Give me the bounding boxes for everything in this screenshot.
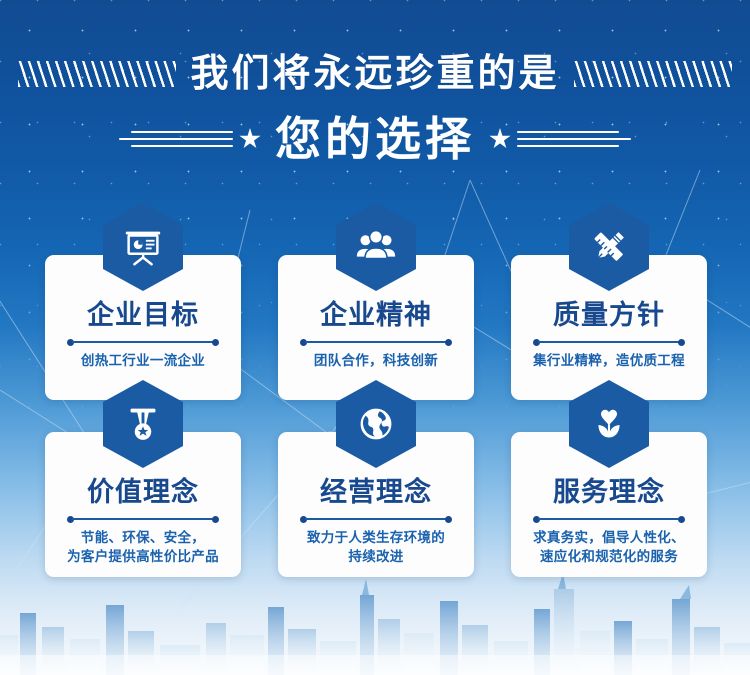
card-subtitle-line: 求真务实，倡导人性化、 xyxy=(517,528,701,547)
value-cards-grid: 企业目标 创热工行业一流企业 xyxy=(45,255,707,577)
icon-hex-badge xyxy=(336,203,416,291)
presentation-board-icon xyxy=(120,224,166,270)
cards-row-2: 价值理念 节能、环保、安全， 为客户提供高性价比产品 xyxy=(45,432,707,577)
card-title: 企业精神 xyxy=(320,299,432,331)
card-title: 经营理念 xyxy=(320,476,432,508)
hatch-right-icon xyxy=(574,61,732,87)
icon-hex-badge xyxy=(103,380,183,468)
card-title: 质量方针 xyxy=(553,299,665,331)
globe-icon xyxy=(353,401,399,447)
hatch-left-icon xyxy=(18,61,176,87)
header-title-secondary: 您的选择 xyxy=(275,111,475,167)
card-divider xyxy=(67,338,219,346)
value-card[interactable]: 经营理念 致力于人类生存环境的 持续改进 xyxy=(278,432,474,577)
value-card[interactable]: 质量方针 集行业精粹，造优质工程 xyxy=(511,255,707,400)
card-subtitle: 致力于人类生存环境的 持续改进 xyxy=(284,528,468,566)
header-title-primary: 我们将永远珍重的是 xyxy=(190,51,559,97)
card-subtitle: 节能、环保、安全， 为客户提供高性价比产品 xyxy=(51,528,235,566)
icon-hex-badge xyxy=(569,203,649,291)
header: 我们将永远珍重的是 您的选择 xyxy=(0,0,750,190)
value-card[interactable]: 企业目标 创热工行业一流企业 xyxy=(45,255,241,400)
card-divider xyxy=(300,338,452,346)
card-divider xyxy=(300,515,452,523)
card-subtitle-line: 节能、环保、安全， xyxy=(51,528,235,547)
card-subtitle-line: 持续改进 xyxy=(284,547,468,566)
card-subtitle: 集行业精粹，造优质工程 xyxy=(517,351,701,370)
card-title: 服务理念 xyxy=(553,476,665,508)
star-left-icon xyxy=(239,128,261,150)
card-subtitle-line: 致力于人类生存环境的 xyxy=(284,528,468,547)
icon-hex-badge xyxy=(103,203,183,291)
card-subtitle-line: 集行业精粹，造优质工程 xyxy=(517,351,701,370)
header-line2-row: 您的选择 xyxy=(0,108,750,170)
three-people-icon xyxy=(353,224,399,270)
card-subtitle-line: 为客户提供高性价比产品 xyxy=(51,547,235,566)
card-divider xyxy=(67,515,219,523)
heart-flower-icon xyxy=(586,401,632,447)
medal-icon xyxy=(120,401,166,447)
card-subtitle-line: 团队合作，科技创新 xyxy=(284,351,468,370)
poster-stage: 我们将永远珍重的是 您的选择 xyxy=(0,0,750,675)
cards-row-1: 企业目标 创热工行业一流企业 xyxy=(45,255,707,400)
card-subtitle: 创热工行业一流企业 xyxy=(51,351,235,370)
value-card[interactable]: 服务理念 求真务实，倡导人性化、 速应化和规范化的服务 xyxy=(511,432,707,577)
card-divider xyxy=(533,338,685,346)
value-card[interactable]: 价值理念 节能、环保、安全， 为客户提供高性价比产品 xyxy=(45,432,241,577)
icon-hex-badge xyxy=(569,380,649,468)
card-subtitle: 团队合作，科技创新 xyxy=(284,351,468,370)
card-title: 企业目标 xyxy=(87,299,199,331)
card-divider xyxy=(533,515,685,523)
card-subtitle-line: 速应化和规范化的服务 xyxy=(517,547,701,566)
card-subtitle-line: 创热工行业一流企业 xyxy=(51,351,235,370)
pencil-ruler-icon xyxy=(586,224,632,270)
header-line1-row: 我们将永远珍重的是 xyxy=(0,48,750,100)
card-title: 价值理念 xyxy=(87,476,199,508)
value-card[interactable]: 企业精神 团队合作，科技创新 xyxy=(278,255,474,400)
wedge-left-icon xyxy=(113,124,233,154)
star-right-icon xyxy=(489,128,511,150)
icon-hex-badge xyxy=(336,380,416,468)
card-subtitle: 求真务实，倡导人性化、 速应化和规范化的服务 xyxy=(517,528,701,566)
wedge-right-icon xyxy=(517,124,637,154)
